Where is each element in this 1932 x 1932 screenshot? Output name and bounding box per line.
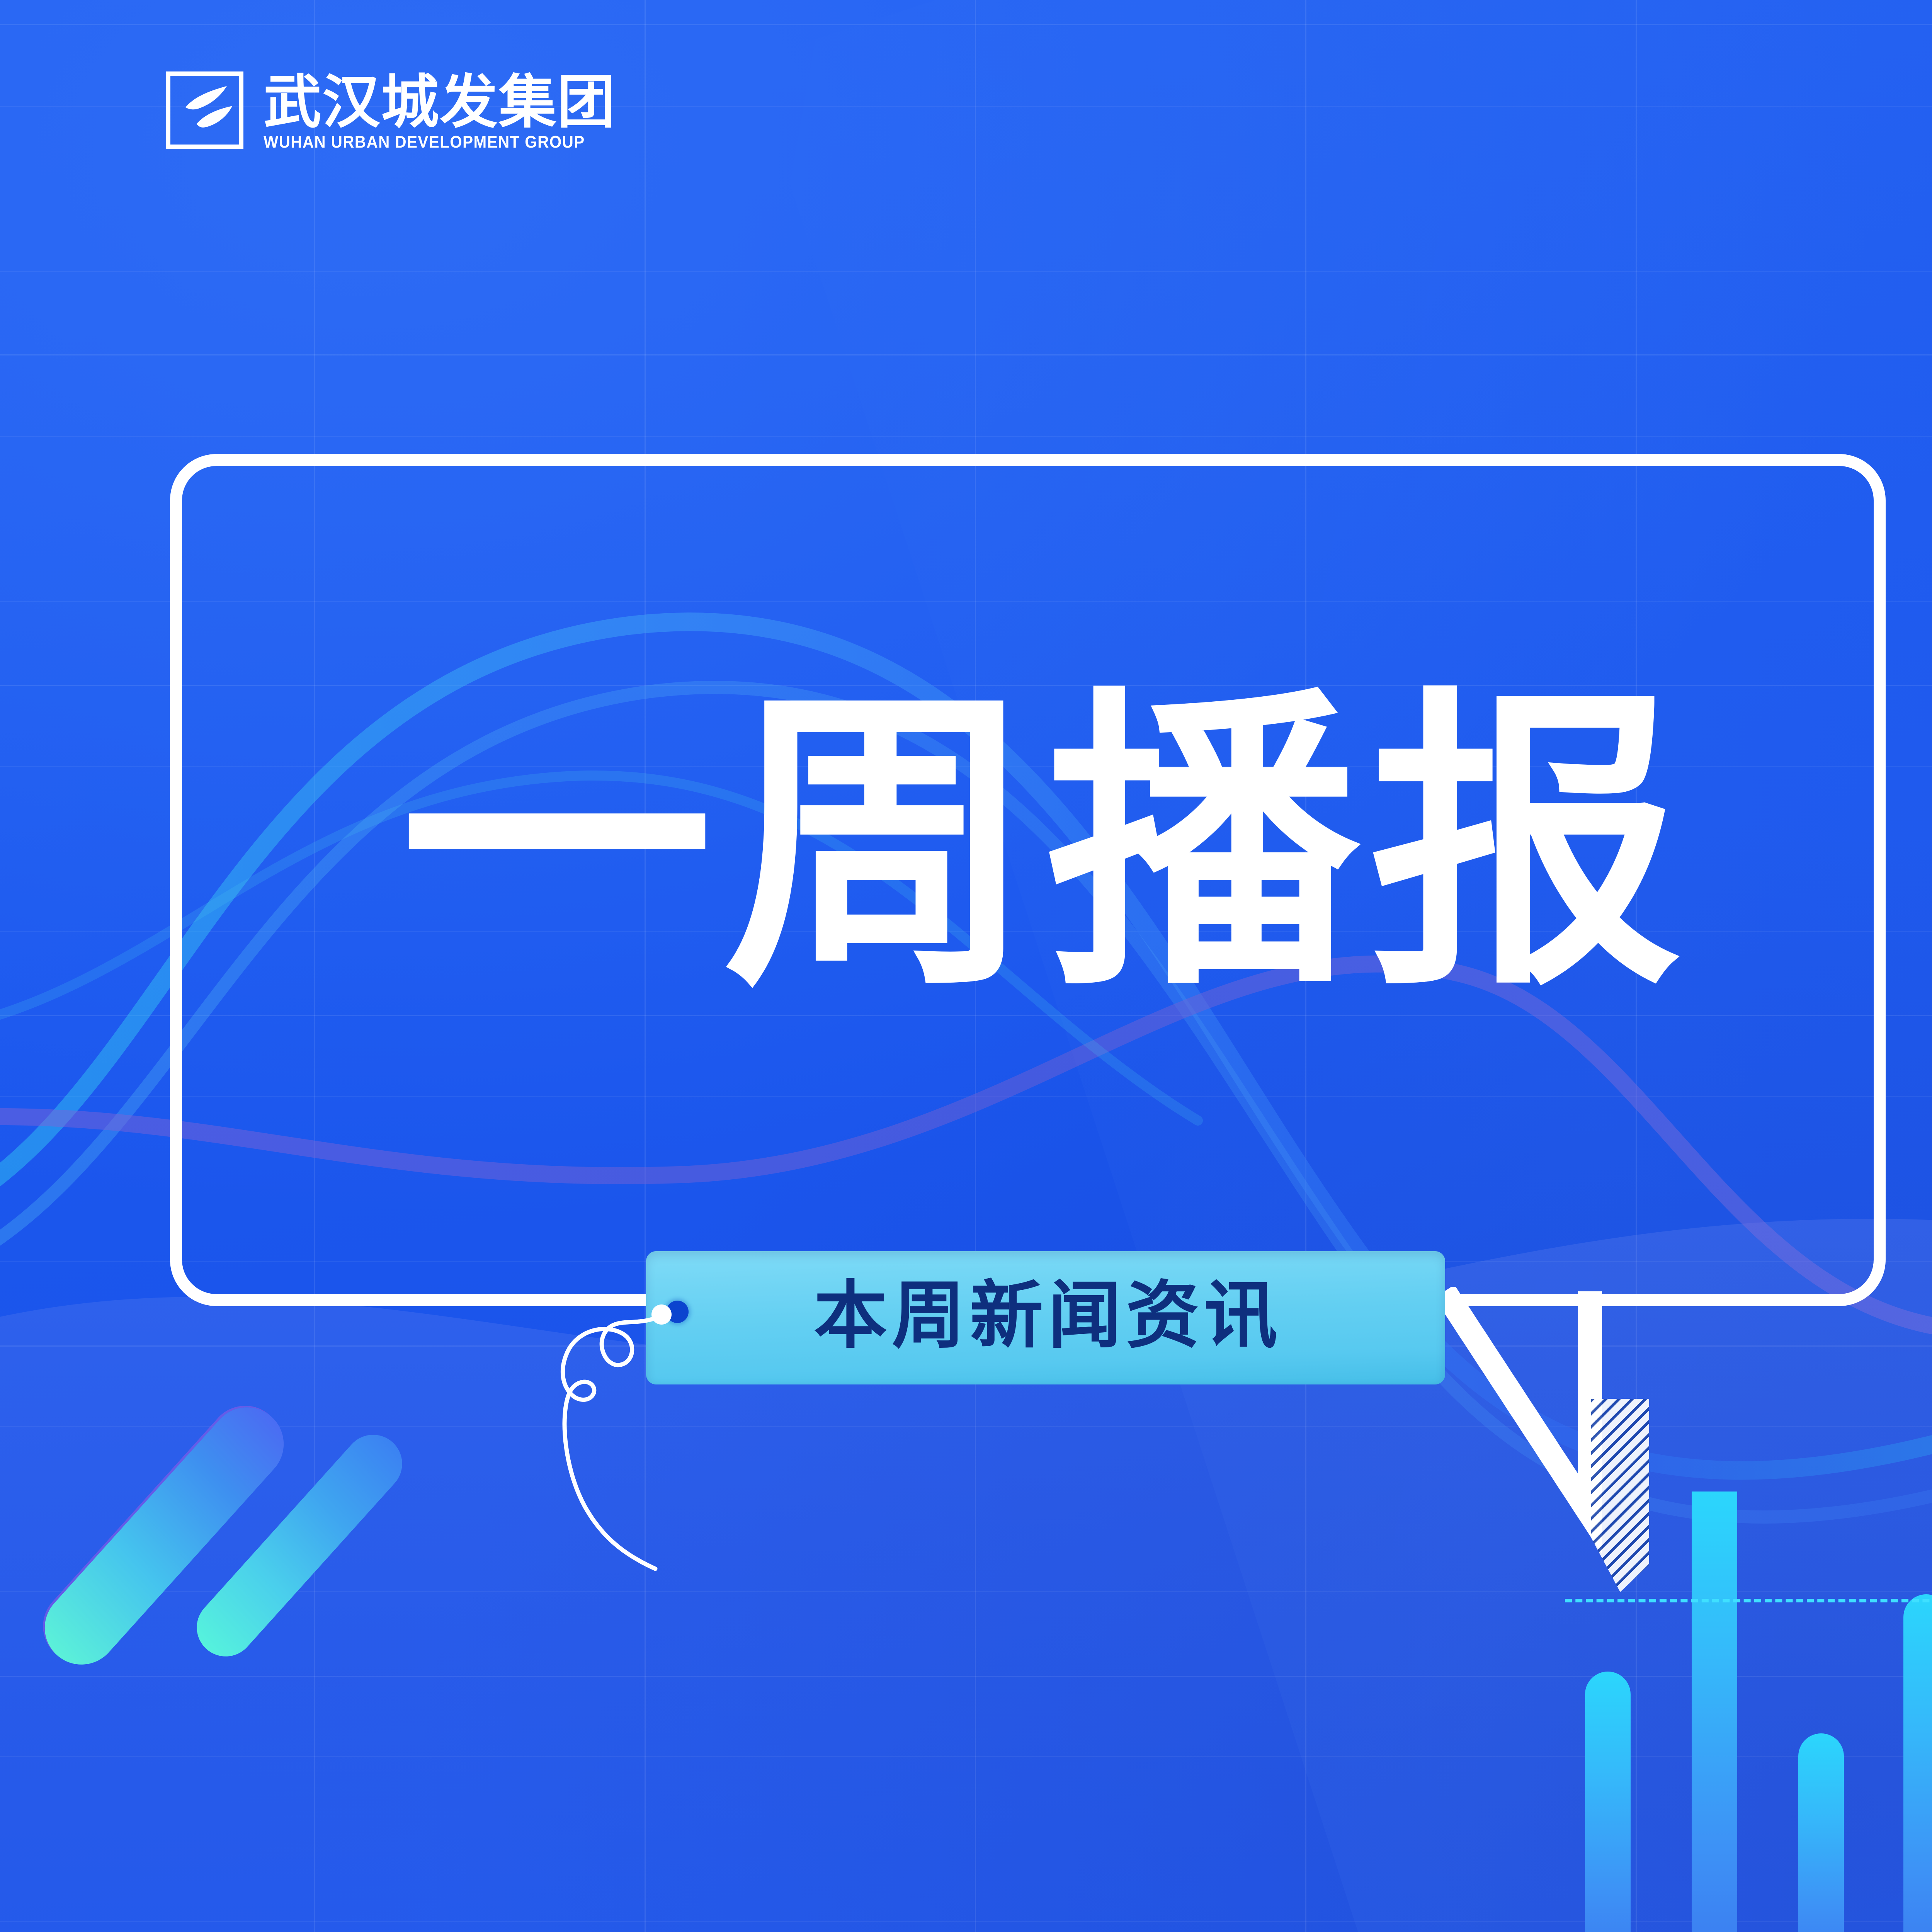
swoosh-icon <box>170 76 239 145</box>
company-name-cn: 武汉城发集团 <box>264 73 616 131</box>
logo-mark-icon <box>166 71 243 149</box>
poster-canvas: 武汉城发集团 WUHAN URBAN DEVELOPMENT GROUP 一周播… <box>0 0 1932 1932</box>
brand-logo: 武汉城发集团 WUHAN URBAN DEVELOPMENT GROUP <box>166 71 616 152</box>
news-tag-badge[interactable]: 本周新闻资讯 <box>646 1251 1445 1384</box>
bar-chart <box>1577 1492 1932 1932</box>
bar-1 <box>1585 1672 1631 1932</box>
bar-2 <box>1692 1492 1737 1932</box>
news-tag-label: 本周新闻资讯 <box>809 1280 1282 1353</box>
bar-3 <box>1798 1733 1844 1932</box>
page-title: 一周播报 <box>0 692 1932 1005</box>
threshold-dashed-line <box>1565 1599 1932 1602</box>
tag-hole-icon <box>666 1301 689 1323</box>
company-name-en: WUHAN URBAN DEVELOPMENT GROUP <box>264 133 588 152</box>
bar-4 <box>1903 1594 1932 1932</box>
